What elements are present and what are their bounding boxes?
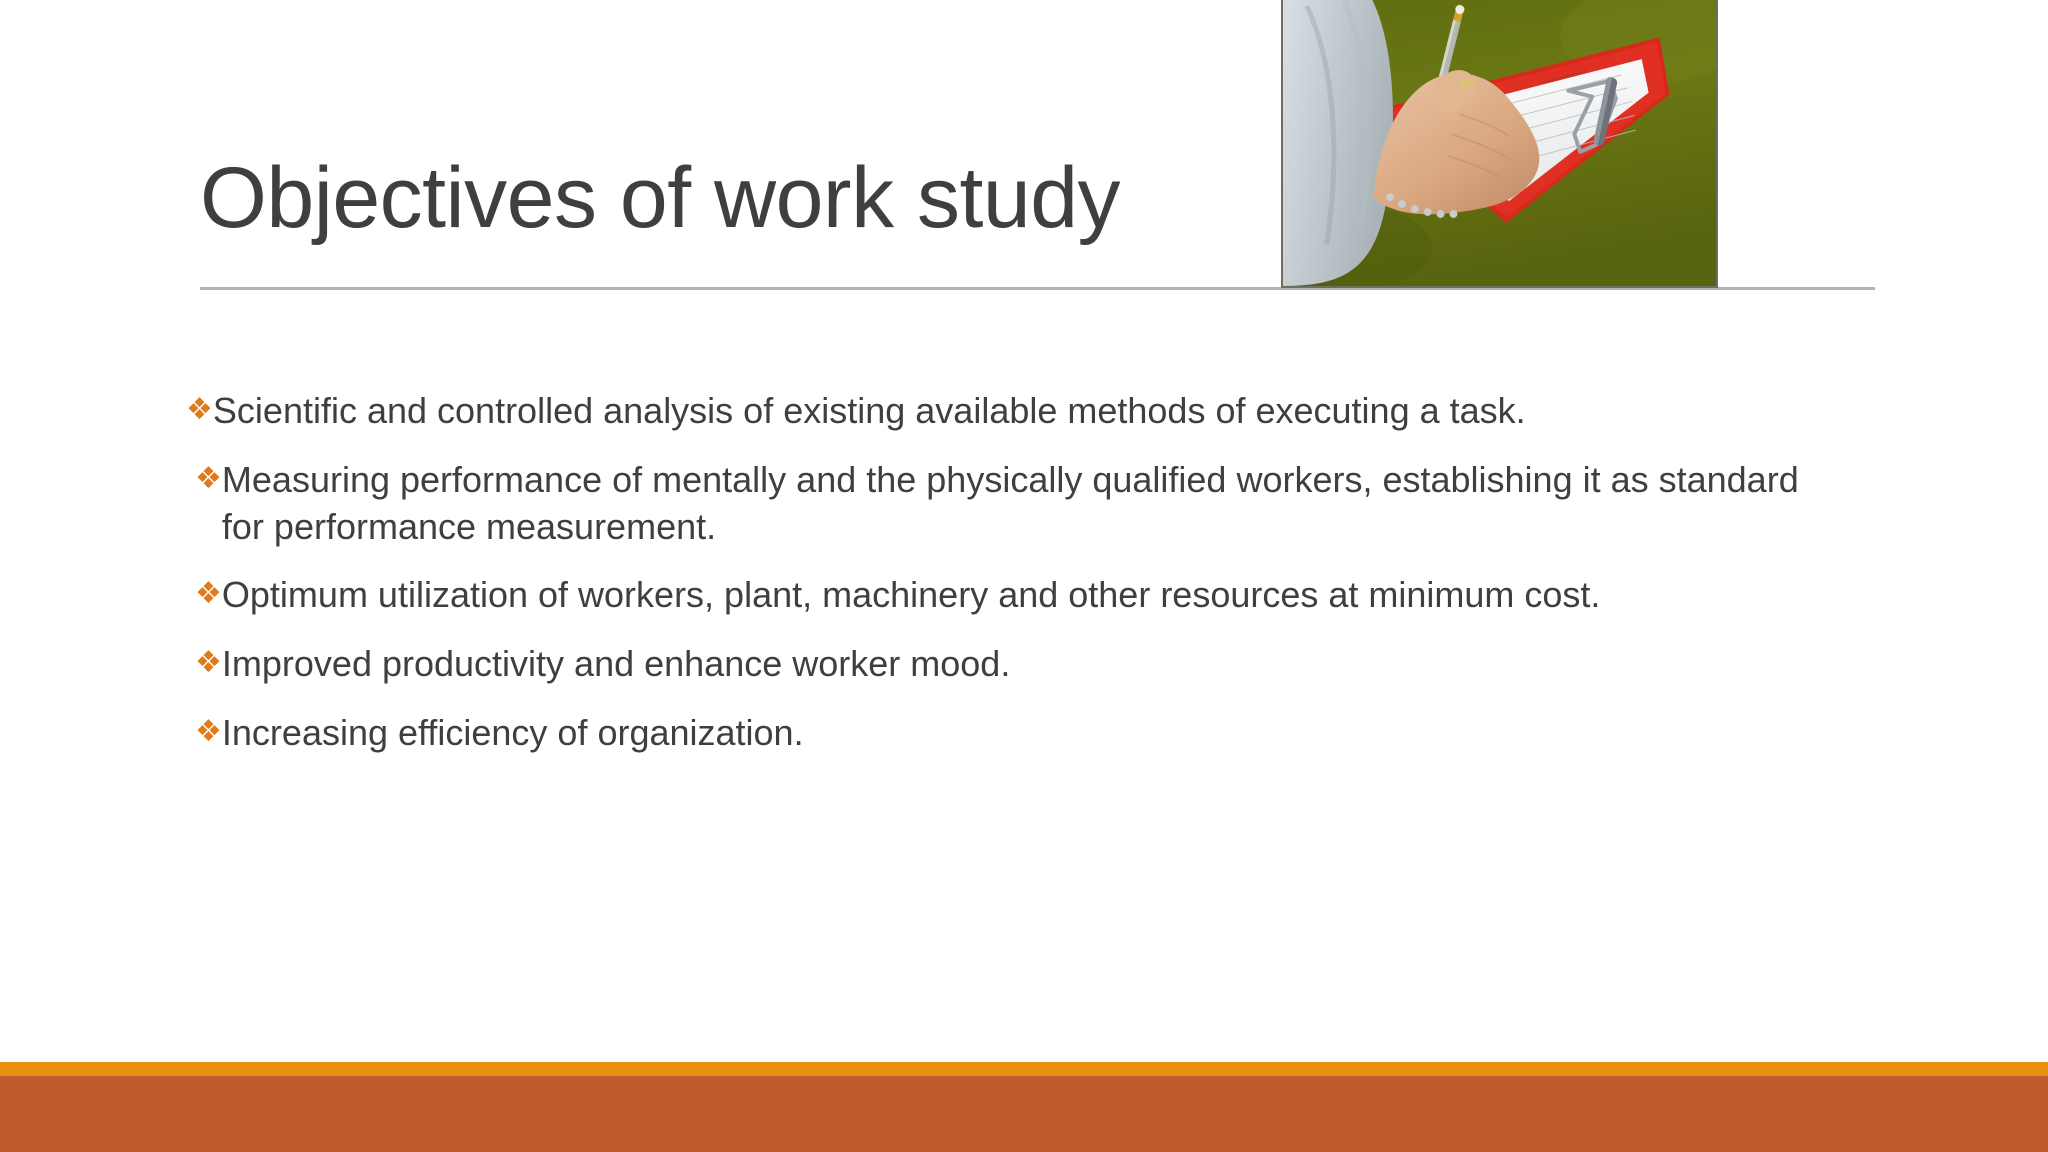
list-item-text: Measuring performance of mentally and th… — [222, 457, 1846, 551]
diamond-bullet-icon: ❖ — [186, 388, 213, 429]
clipboard-writing-photo — [1281, 0, 1718, 288]
page-title: Objectives of work study — [200, 150, 1280, 246]
content-placeholder[interactable]: ❖ Scientific and controlled analysis of … — [186, 388, 1846, 779]
list-item: ❖ Measuring performance of mentally and … — [186, 457, 1846, 551]
list-item: ❖ Increasing efficiency of organization. — [186, 710, 1846, 757]
clipboard-writing-illustration — [1283, 0, 1716, 286]
list-item-text: Increasing efficiency of organization. — [222, 710, 1846, 757]
diamond-bullet-icon: ❖ — [195, 572, 222, 613]
list-item-text: Improved productivity and enhance worker… — [222, 641, 1846, 688]
diamond-bullet-icon: ❖ — [195, 641, 222, 682]
list-item: ❖ Optimum utilization of workers, plant,… — [186, 572, 1846, 619]
title-placeholder[interactable]: Objectives of work study — [200, 150, 1280, 290]
footer-accent-band-brick — [0, 1076, 2048, 1152]
slide-canvas: Objectives of work study — [0, 0, 2048, 1152]
diamond-bullet-icon: ❖ — [195, 710, 222, 751]
diamond-bullet-icon: ❖ — [195, 457, 222, 498]
list-item: ❖ Improved productivity and enhance work… — [186, 641, 1846, 688]
list-item: ❖ Scientific and controlled analysis of … — [186, 388, 1846, 435]
footer-accent-band-orange — [0, 1062, 2048, 1076]
list-item-text: Optimum utilization of workers, plant, m… — [222, 572, 1846, 619]
list-item-text: Scientific and controlled analysis of ex… — [213, 388, 1846, 435]
